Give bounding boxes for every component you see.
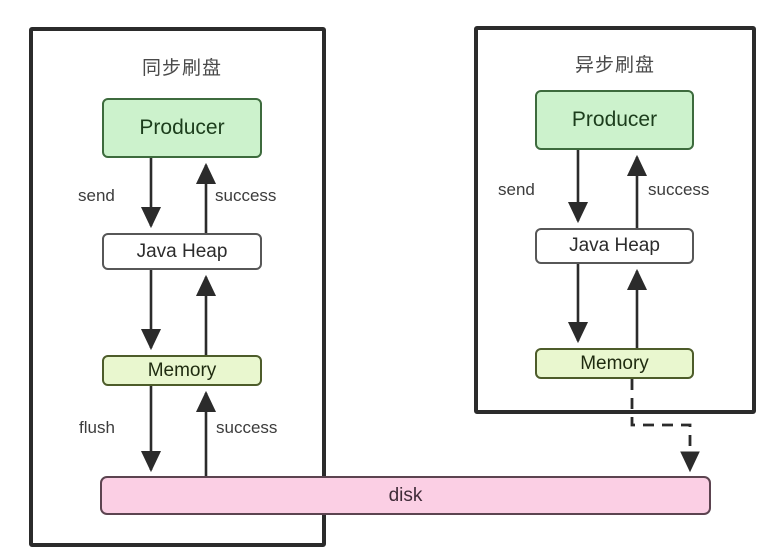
node-label: Java Heap bbox=[569, 235, 660, 257]
edge-label-success-async: success bbox=[648, 180, 709, 200]
node-java-heap-sync[interactable]: Java Heap bbox=[102, 233, 262, 270]
node-producer-sync[interactable]: Producer bbox=[102, 98, 262, 158]
arrow-layer bbox=[0, 0, 779, 555]
edge-label-send-sync: send bbox=[78, 186, 115, 206]
node-label: Java Heap bbox=[137, 241, 228, 263]
node-label: Memory bbox=[148, 360, 217, 382]
node-memory-sync[interactable]: Memory bbox=[102, 355, 262, 386]
diagram-canvas: 同步刷盘 异步刷盘 bbox=[0, 0, 779, 555]
node-label: Memory bbox=[580, 353, 649, 375]
node-java-heap-async[interactable]: Java Heap bbox=[535, 228, 694, 264]
node-disk[interactable]: disk bbox=[100, 476, 711, 515]
edge-label-send-async: send bbox=[498, 180, 535, 200]
edge-label-success-disk-sync: success bbox=[216, 418, 277, 438]
edge-label-success-sync: success bbox=[215, 186, 276, 206]
node-label: Producer bbox=[139, 116, 224, 140]
edge-label-flush-sync: flush bbox=[79, 418, 115, 438]
node-producer-async[interactable]: Producer bbox=[535, 90, 694, 150]
arrow-async-memory-to-disk-dashed bbox=[632, 379, 690, 470]
node-memory-async[interactable]: Memory bbox=[535, 348, 694, 379]
node-label: disk bbox=[389, 485, 423, 507]
node-label: Producer bbox=[572, 108, 657, 132]
